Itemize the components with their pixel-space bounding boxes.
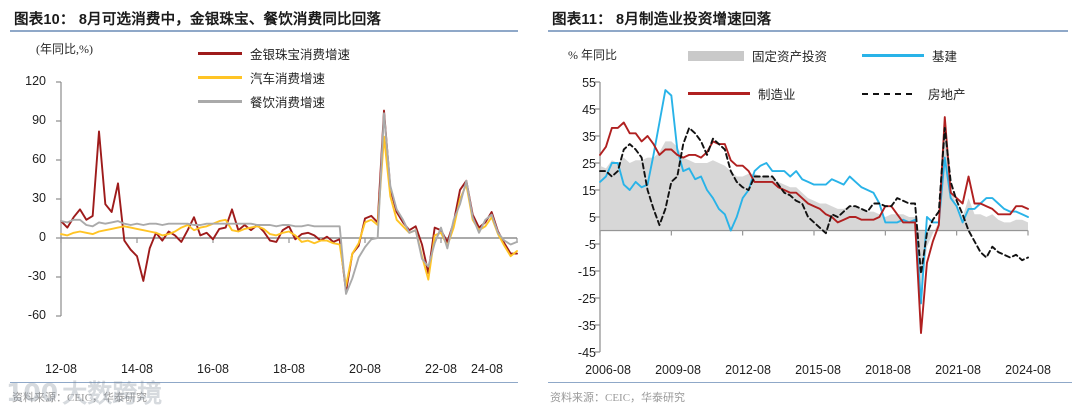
figure-10-plot [0, 0, 540, 415]
figure-10-xtick-6: 24-08 [452, 362, 522, 376]
figure-11-xtick-5: 2021-08 [918, 363, 998, 377]
figure-10-xtick-1: 14-08 [102, 362, 172, 376]
figure-11-xtick-0: 2006-08 [568, 363, 648, 377]
figure-11-panel: 图表11： 8月制造业投资增速回落 % 年同比 固定资产投资 基建 制造业 房地… [540, 0, 1080, 415]
figure-11-xtick-4: 2018-08 [848, 363, 928, 377]
figure-11-source: 资料来源：CEIC，华泰研究 [550, 389, 685, 405]
figures-page: 图表10： 8月可选消费中，金银珠宝、餐饮消费同比回落 (年同比,%) 金银珠宝… [0, 0, 1080, 415]
figure-10-xtick-3: 18-08 [254, 362, 324, 376]
figure-11-xtick-2: 2012-08 [708, 363, 788, 377]
figure-10-panel: 图表10： 8月可选消费中，金银珠宝、餐饮消费同比回落 (年同比,%) 金银珠宝… [0, 0, 540, 415]
figure-11-xtick-3: 2015-08 [778, 363, 858, 377]
figure-10-xtick-0: 12-08 [26, 362, 96, 376]
figure-10-source: 资料来源：CEIC，华泰研究 [12, 389, 147, 405]
figure-11-foot-rule [548, 382, 1072, 384]
figure-11-xtick-6: 2024-08 [988, 363, 1068, 377]
figure-10-xtick-2: 16-08 [178, 362, 248, 376]
figure-11-xtick-1: 2009-08 [638, 363, 718, 377]
figure-10-foot-rule [10, 382, 518, 384]
figure-10-xtick-4: 20-08 [330, 362, 400, 376]
figure-11-plot [540, 0, 1080, 415]
